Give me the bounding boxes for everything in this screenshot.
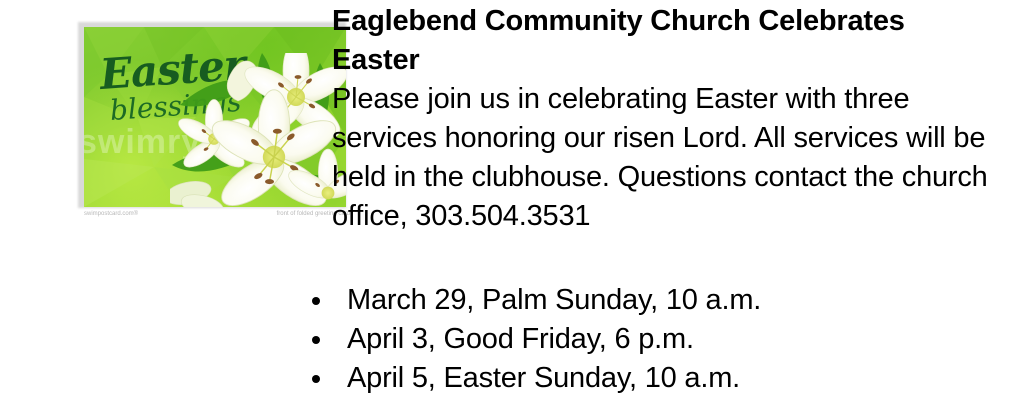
- service-label: April 5, Easter Sunday, 10 a.m.: [347, 362, 740, 394]
- bullet-icon: [312, 375, 320, 383]
- service-label: April 3, Good Friday, 6 p.m.: [347, 323, 694, 355]
- card-stock-caption: swimpostcard.com® front of folded greeti…: [84, 211, 352, 223]
- announcement-page: swimry Easter blessings: [0, 0, 1024, 415]
- announcement-text-block: Eaglebend Community Church Celebrates Ea…: [332, 2, 992, 236]
- card-caption-left: swimpostcard.com®: [84, 211, 138, 217]
- bullet-icon: [312, 336, 320, 344]
- greeting-card: swimry Easter blessings: [84, 27, 346, 207]
- service-schedule-list: March 29, Palm Sunday, 10 a.m. April 3, …: [307, 281, 761, 398]
- list-item: April 3, Good Friday, 6 p.m.: [307, 320, 761, 359]
- announcement-body: Please join us in celebrating Easter wit…: [332, 80, 992, 236]
- bullet-icon: [312, 297, 320, 305]
- list-item: April 5, Easter Sunday, 10 a.m.: [307, 359, 761, 398]
- page-title: Eaglebend Community Church Celebrates Ea…: [332, 2, 992, 80]
- service-label: March 29, Palm Sunday, 10 a.m.: [347, 284, 761, 316]
- easter-card-image: swimry Easter blessings: [78, 22, 350, 224]
- list-item: March 29, Palm Sunday, 10 a.m.: [307, 281, 761, 320]
- lily-flowers-icon: [170, 53, 346, 207]
